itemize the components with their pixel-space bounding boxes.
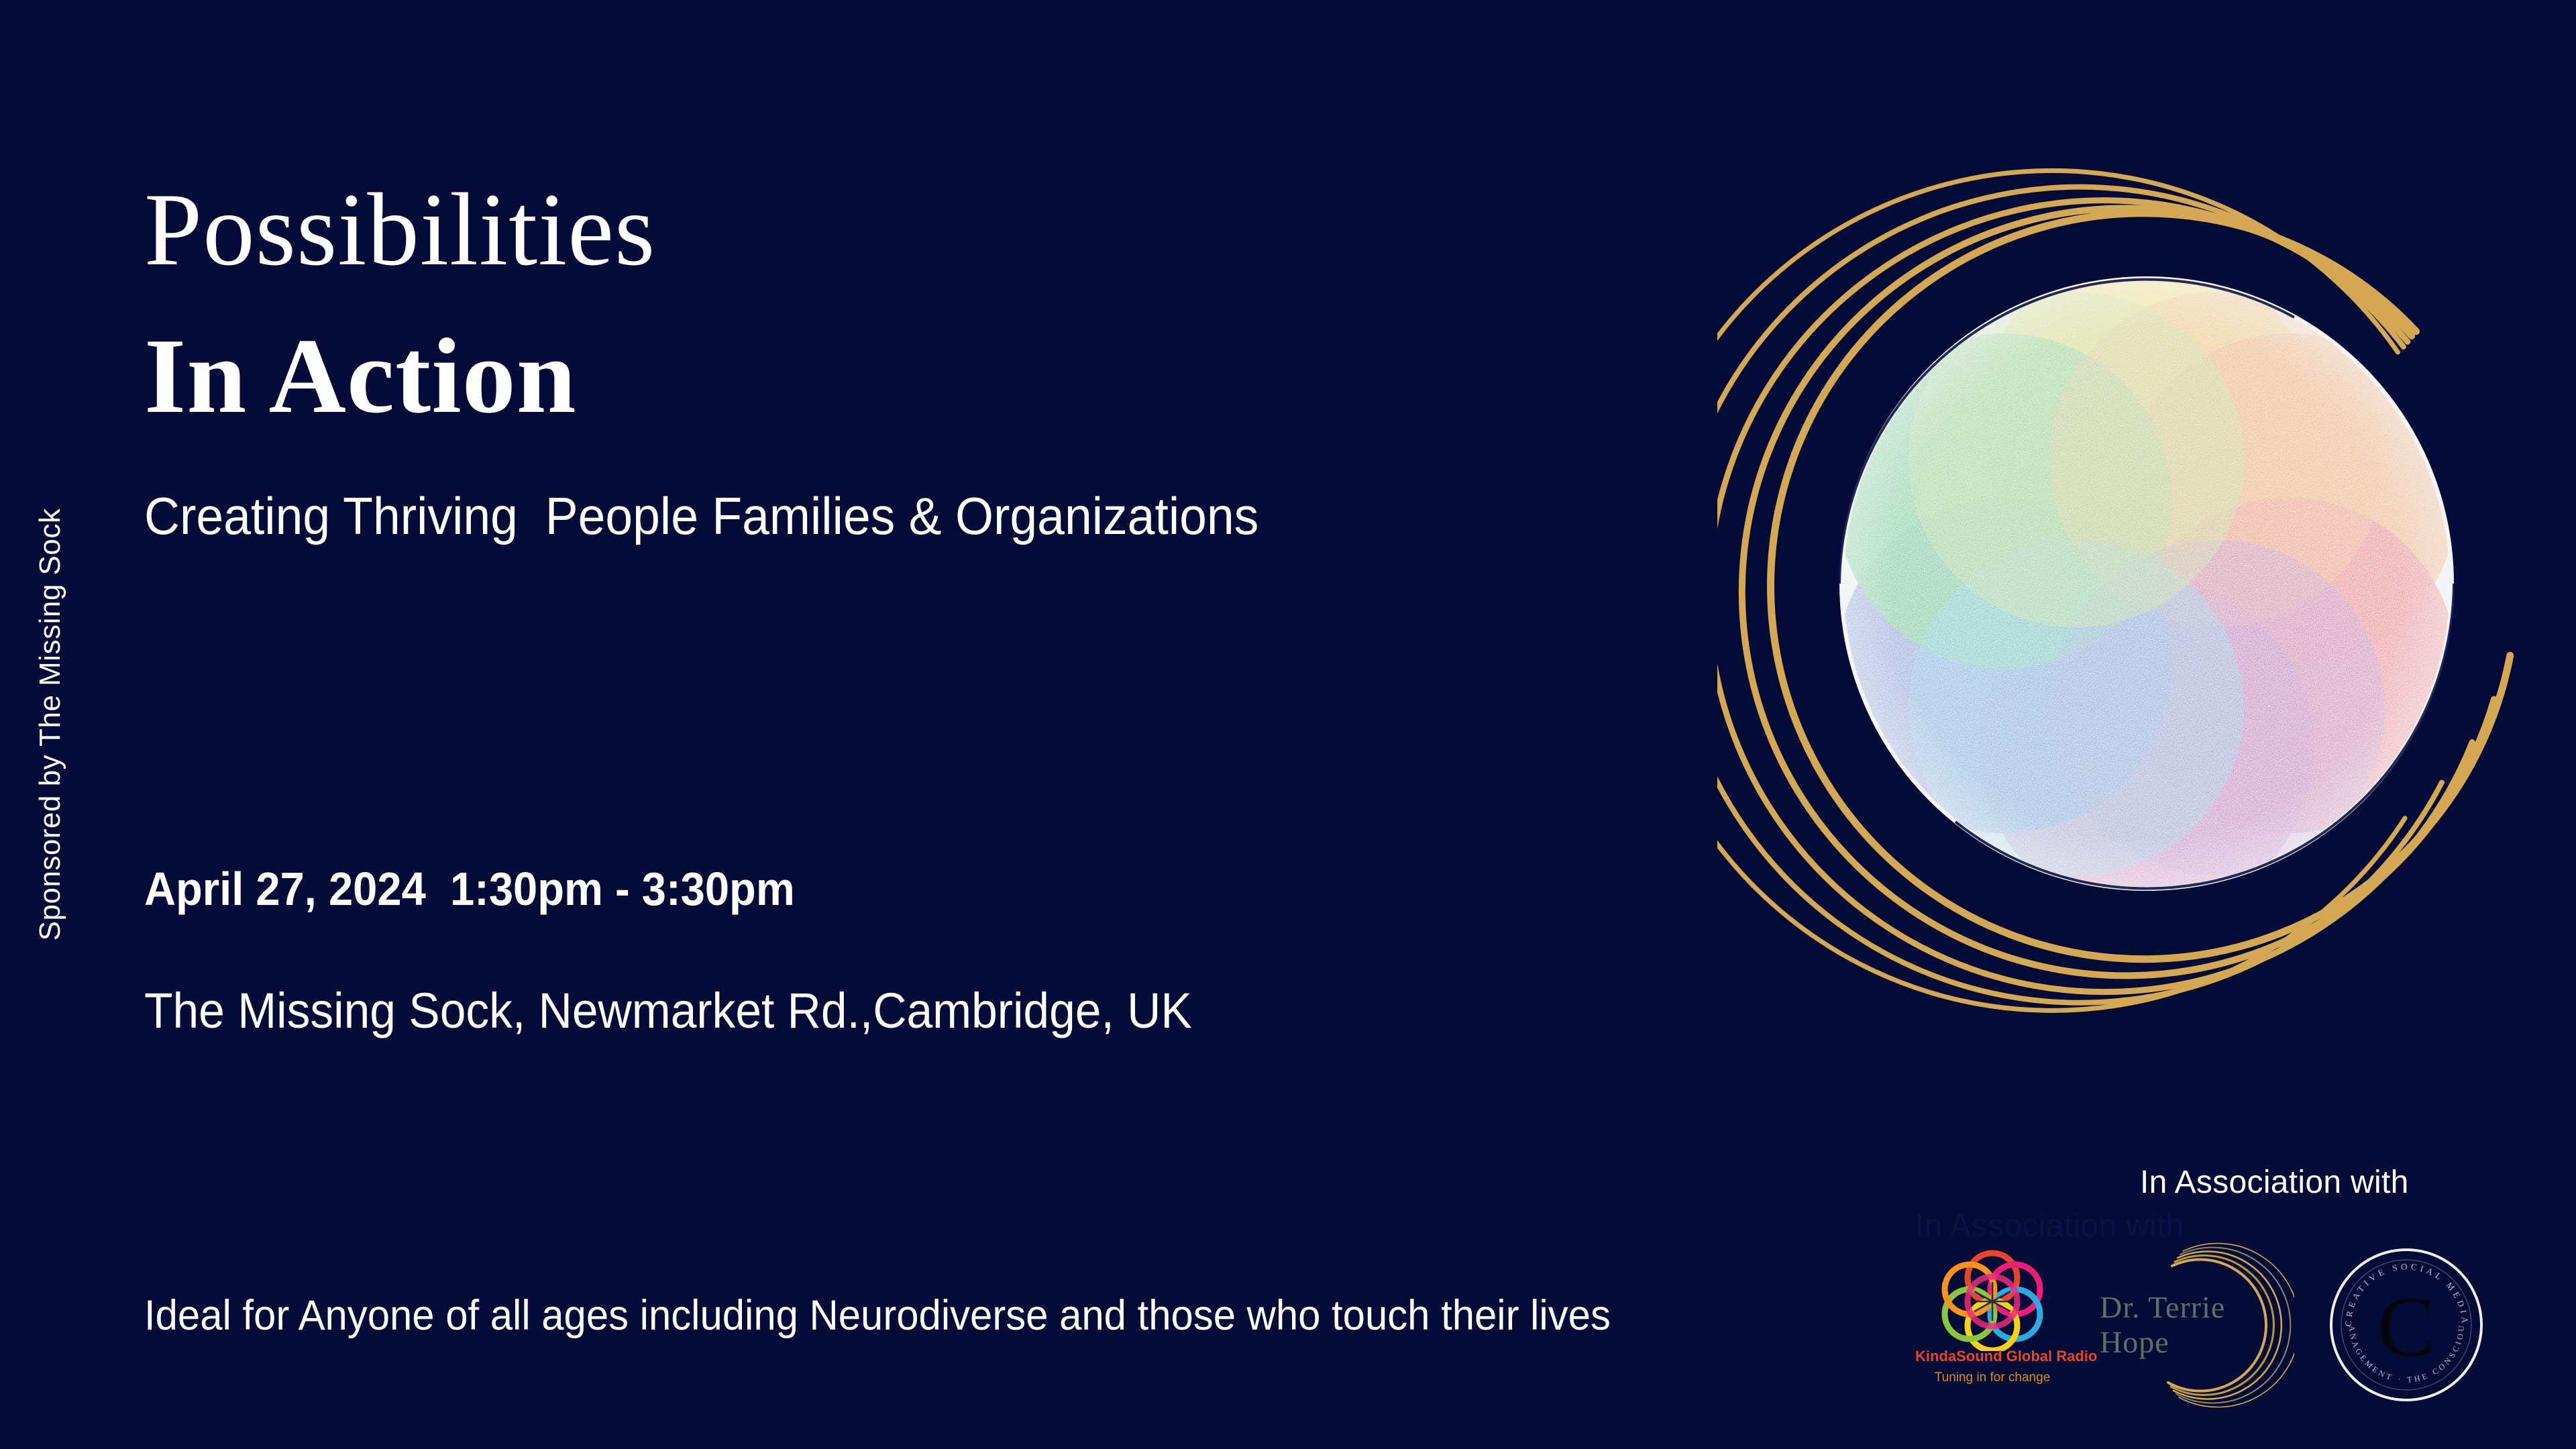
headline-subtitle: Creating Thriving People Families & Orga… (144, 490, 1258, 542)
event-venue: The Missing Sock, Newmarket Rd.,Cambridg… (144, 986, 1192, 1036)
flower-of-life-icon (1915, 1247, 2070, 1351)
partner-logo-row: KindaSound Global Radio Tuning in for ch… (1909, 1238, 2546, 1412)
event-tagline: Ideal for Anyone of all ages including N… (144, 1295, 1611, 1337)
poster-canvas: Sponsored by The Missing Sock Possibilit… (0, 0, 2576, 1449)
association-heading: In Association with (2140, 1164, 2409, 1201)
event-datetime: April 27, 2024 1:30pm - 3:30pm (144, 865, 795, 912)
main-content: Possibilities In Action Creating Thrivin… (144, 0, 1687, 1449)
headline-line-2: In Action (144, 322, 577, 429)
logo-conscious-badge[interactable]: CREATIVE SOCIAL MEDIA MANAGEMENT · THE C… (2324, 1243, 2489, 1407)
logo-kindasound[interactable]: KindaSound Global Radio Tuning in for ch… (1915, 1247, 2070, 1401)
badge-monogram: C (2377, 1279, 2434, 1375)
rainbow-rosette-artwork (1717, 154, 2576, 1026)
sponsor-label: Sponsored by The Missing Sock (34, 508, 67, 941)
sponsor-strip: Sponsored by The Missing Sock (0, 0, 101, 1449)
headline-line-1: Possibilities (144, 178, 655, 282)
kindasound-name: KindaSound Global Radio (1915, 1348, 2070, 1365)
rainbow-petals (1837, 252, 2457, 916)
kindasound-tagline: Tuning in for change (1915, 1371, 2070, 1385)
logo-dr-terrie-hope[interactable]: Dr. Terrie Hope (2093, 1238, 2294, 1412)
dr-terrie-hope-name: Dr. Terrie Hope (2100, 1290, 2225, 1359)
association-block: In Association with In Association with (1811, 1150, 2549, 1432)
